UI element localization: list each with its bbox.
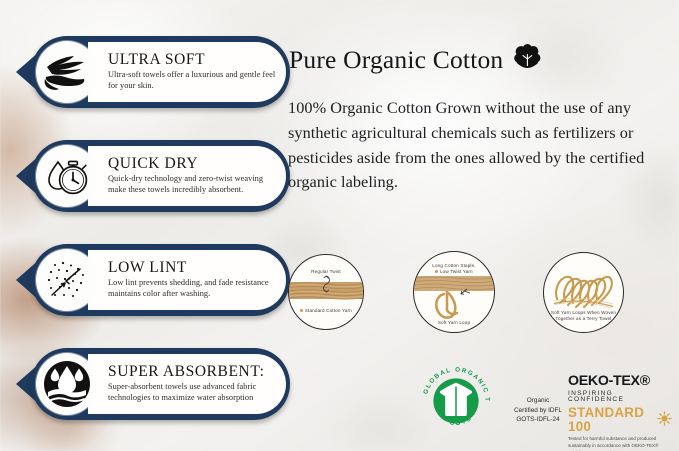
feature-title: ULTRA SOFT: [108, 52, 276, 68]
yarn-bottom-label: Standard Cotton Yarn: [289, 308, 363, 314]
feature-pill-quick-dry[interactable]: QUICK DRY Quick-dry technology and zero-…: [16, 140, 290, 212]
headline-text: Pure Organic Cotton: [289, 45, 503, 75]
oeko-brand: OEKO-TEX®: [568, 374, 672, 388]
idfl-line-2: Certified by IDFL: [505, 406, 571, 416]
feature-desc: Low lint prevents shedding, and fade res…: [108, 278, 276, 300]
idfl-line-1: Organic: [505, 396, 571, 406]
feature-title: LOW LINT: [108, 260, 276, 276]
cotton-boll-icon: [514, 44, 541, 76]
yarn-top-label-2: Low Twist Yarn: [414, 269, 494, 275]
oeko-fineprint: Tested for harmful substance and produce…: [568, 436, 672, 451]
lint-particles-icon: [36, 249, 98, 311]
body-paragraph: 100% Organic Cotton Grown without the us…: [288, 96, 673, 195]
yarn-bottom-label-2: Together as a Terry Towel: [544, 316, 623, 322]
yarn-diagram-terry-loops: Soft Yarn Loops When Woven Together as a…: [543, 252, 624, 333]
pill-card: LOW LINT Low lint prevents shedding, and…: [88, 250, 286, 310]
yarn-bottom-label: Soft Yarn Loop: [414, 320, 494, 326]
pill-body: SUPER ABSORBENT: Super-absorbent towels …: [31, 348, 290, 420]
sun-burst-icon: [657, 411, 672, 428]
feature-pill-super-absorbent[interactable]: SUPER ABSORBENT: Super-absorbent towels …: [16, 348, 290, 420]
hand-feather-icon: [36, 41, 98, 103]
pill-body: QUICK DRY Quick-dry technology and zero-…: [31, 140, 290, 212]
water-droplet-absorb-icon: [36, 353, 98, 415]
pill-card: SUPER ABSORBENT: Super-absorbent towels …: [88, 354, 286, 414]
feature-pill-ultra-soft[interactable]: ULTRA SOFT Ultra-soft towels offer a lux…: [16, 36, 290, 108]
feature-title: SUPER ABSORBENT:: [108, 364, 276, 380]
legend-dot: [300, 309, 303, 312]
oeko-standard: STANDARD 100: [568, 406, 672, 433]
gots-logo-icon: GLOBAL ORGANIC TEXTILE STANDARD - GOTS -: [419, 364, 493, 438]
yarn-top-label: Regular Twist: [289, 269, 363, 275]
pill-card: ULTRA SOFT Ultra-soft towels offer a lux…: [88, 42, 286, 102]
oeko-tagline: INSPIRING CONFIDENCE: [568, 391, 672, 404]
feature-desc: Quick-dry technology and zero-twist weav…: [108, 174, 276, 196]
feature-title: QUICK DRY: [108, 156, 276, 172]
product-infographic: ULTRA SOFT Ultra-soft towels offer a lux…: [0, 0, 679, 451]
pill-card: QUICK DRY Quick-dry technology and zero-…: [88, 146, 286, 206]
legend-dot: [435, 270, 438, 273]
idfl-certification-text: Organic Certified by IDFL GOTS-IDFL-24: [505, 396, 571, 425]
feature-desc: Super-absorbent towels use advanced fabr…: [108, 382, 276, 404]
oeko-tex-badge: OEKO-TEX® INSPIRING CONFIDENCE STANDARD …: [568, 374, 672, 451]
feature-pill-low-lint[interactable]: LOW LINT Low lint prevents shedding, and…: [16, 244, 290, 316]
yarn-diagram-low-twist: Long Cotton Staple, Low Twist Yarn Soft …: [413, 251, 495, 333]
yarn-diagram-standard: Regular Twist Standard Cotton Yarn: [288, 254, 364, 330]
page-title: Pure Organic Cotton: [289, 44, 541, 76]
feature-desc: Ultra-soft towels offer a luxurious and …: [108, 70, 276, 92]
droplet-stopwatch-icon: [36, 145, 98, 207]
pill-body: ULTRA SOFT Ultra-soft towels offer a lux…: [31, 36, 290, 108]
idfl-line-3: GOTS-IDFL-24: [505, 415, 571, 425]
pill-body: LOW LINT Low lint prevents shedding, and…: [31, 244, 290, 316]
